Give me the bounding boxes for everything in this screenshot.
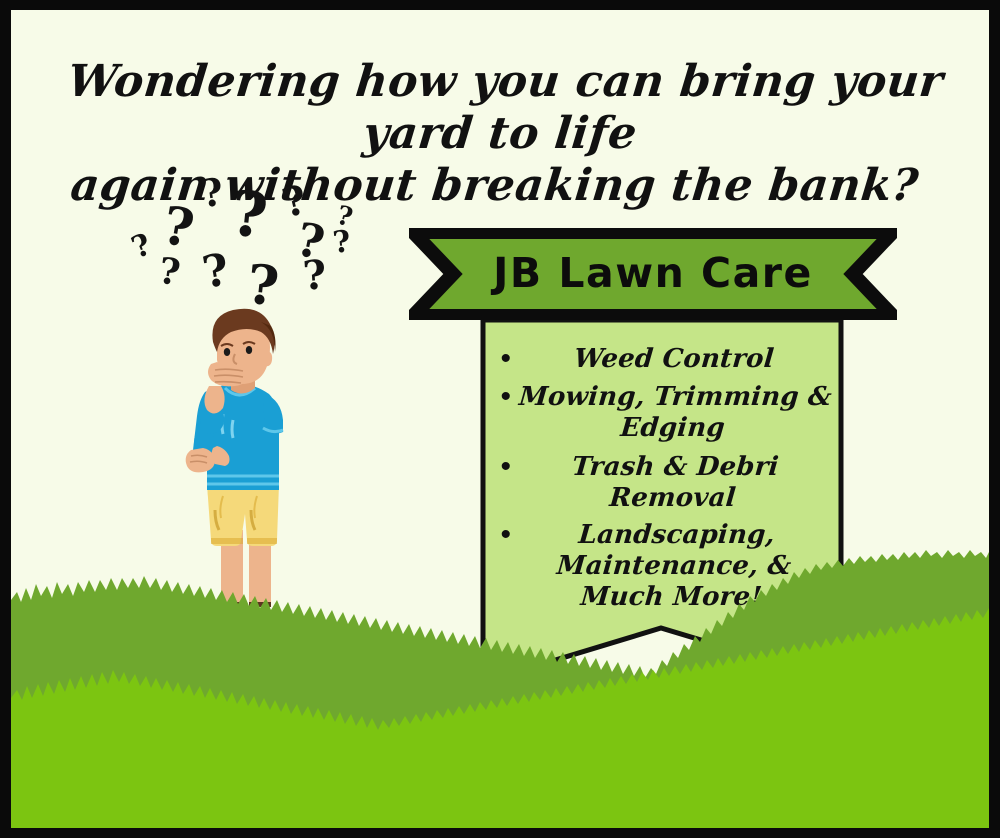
question-marks-cluster: ? ? ? ? ? ? ? ? ? ? ? ? — [131, 170, 361, 320]
question-mark-icon: ? — [302, 255, 328, 297]
headline-line-1: Wondering how you can bring your yard to… — [11, 56, 989, 160]
question-mark-icon: ? — [334, 203, 355, 232]
question-mark-icon: ? — [198, 173, 225, 214]
question-mark-icon: ? — [128, 230, 156, 264]
question-mark-icon: ? — [157, 253, 183, 292]
question-mark-icon: ? — [244, 256, 281, 313]
ribbon-shape — [413, 232, 893, 316]
brand-ribbon: JB Lawn Care — [409, 228, 897, 320]
question-mark-icon: ? — [228, 182, 271, 247]
grass-field — [11, 548, 989, 828]
question-mark-icon: ? — [199, 248, 232, 296]
question-mark-icon: ? — [159, 200, 198, 257]
poster: Wondering how you can bring your yard to… — [0, 0, 1000, 838]
poster-canvas: Wondering how you can bring your yard to… — [11, 10, 989, 828]
